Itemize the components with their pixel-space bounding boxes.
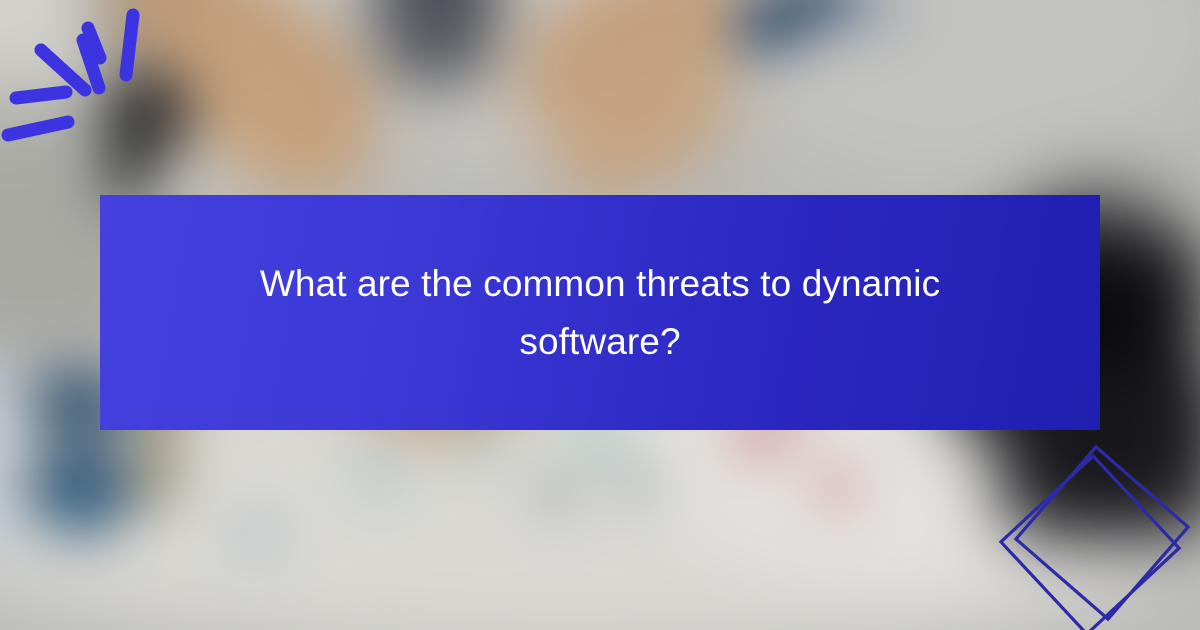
bg-speck bbox=[540, 480, 570, 510]
bg-blue-object bbox=[48, 475, 108, 535]
bg-speck bbox=[580, 425, 616, 461]
bg-speck bbox=[820, 470, 854, 504]
bg-speck bbox=[460, 425, 494, 459]
page-title: What are the common threats to dynamic s… bbox=[240, 255, 960, 370]
bg-paper bbox=[0, 360, 20, 560]
bg-speck bbox=[625, 470, 655, 500]
social-card: What are the common threats to dynamic s… bbox=[0, 0, 1200, 630]
title-banner: What are the common threats to dynamic s… bbox=[100, 195, 1100, 430]
bg-speck bbox=[360, 450, 400, 492]
